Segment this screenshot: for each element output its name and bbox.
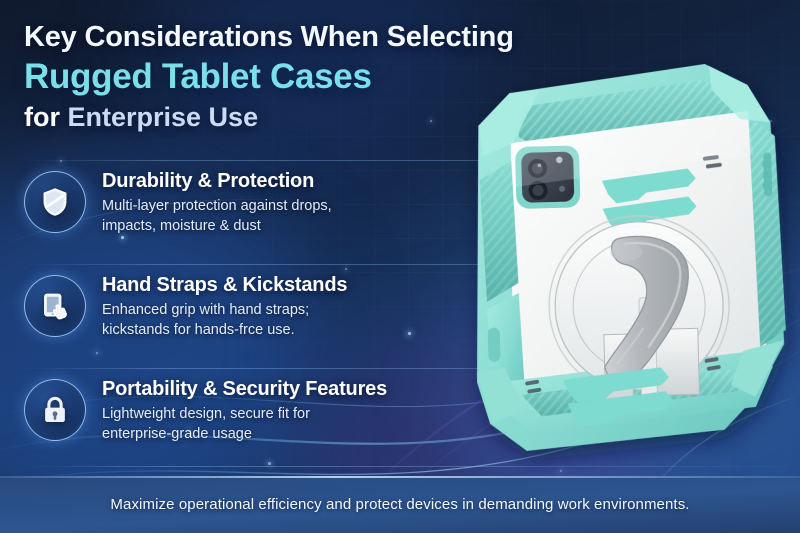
footer-banner: Maximize operational efficiency and prot… [0, 476, 800, 533]
footer-text: Maximize operational efficiency and prot… [110, 496, 689, 513]
shield-icon [24, 171, 86, 233]
headline-line-3-accent: Enterprise Use [68, 102, 259, 132]
headline-line-3: for Enterprise Use [24, 101, 584, 133]
feature-title: Portability & Security Features [102, 377, 387, 401]
headline-line-2: Rugged Tablet Cases [24, 56, 584, 98]
tablet-hand-icon [24, 275, 86, 337]
feature-text-portability: Portability & Security Features Lightwei… [102, 371, 387, 444]
lock-icon [24, 379, 86, 441]
feature-title: Durability & Protection [102, 169, 332, 193]
feature-description: Lightweight design, secure fit for enter… [102, 405, 387, 444]
headline-line-1: Key Considerations When Selecting [24, 20, 584, 54]
infographic-canvas: Key Considerations When Selecting Rugged… [0, 0, 800, 533]
feature-item-hand-straps: Hand Straps & Kickstands Enhanced grip w… [24, 267, 454, 371]
feature-list: Durability & Protection Multi-layer prot… [24, 163, 454, 475]
feature-title: Hand Straps & Kickstands [102, 273, 347, 297]
feature-item-durability: Durability & Protection Multi-layer prot… [24, 163, 454, 267]
headline-line-3-prefix: for [24, 102, 68, 132]
feature-text-hand-straps: Hand Straps & Kickstands Enhanced grip w… [102, 267, 347, 340]
headline-block: Key Considerations When Selecting Rugged… [24, 20, 584, 134]
feature-item-portability: Portability & Security Features Lightwei… [24, 371, 454, 475]
feature-description: Multi-layer protection against drops, im… [102, 197, 332, 236]
feature-description: Enhanced grip with hand straps; kickstan… [102, 301, 347, 340]
feature-text-durability: Durability & Protection Multi-layer prot… [102, 163, 332, 236]
